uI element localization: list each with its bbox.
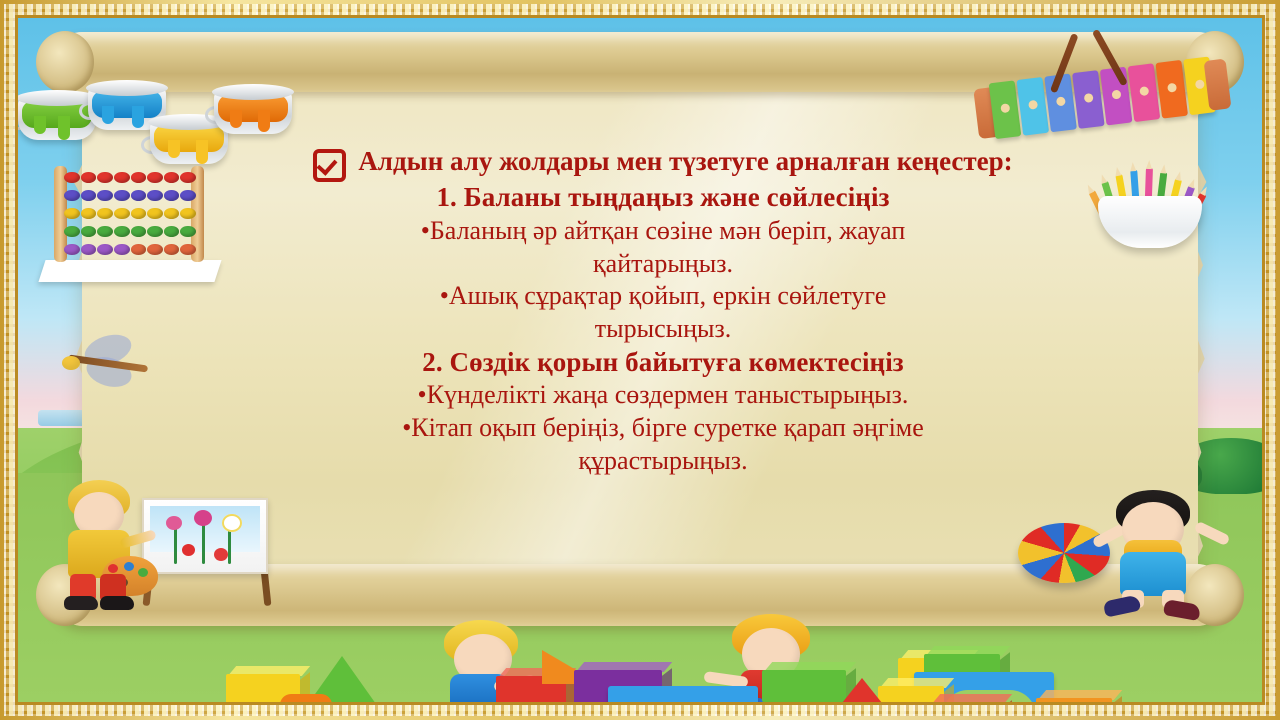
abacus-bead — [164, 226, 180, 237]
abacus-bead — [97, 190, 113, 201]
block-front-face — [1036, 698, 1112, 702]
scroll-roll-cap-left — [36, 31, 94, 93]
abacus-bead — [114, 190, 130, 201]
block-red-right — [930, 694, 1002, 702]
abacus-bead — [147, 190, 163, 201]
abacus-bead — [97, 208, 113, 219]
paint-drip — [230, 110, 242, 128]
palette-blob — [108, 564, 118, 573]
abacus-bead — [81, 244, 97, 255]
slide-line-bullet-1a-cont: қайтарыңыз. — [283, 249, 1043, 280]
abacus-bead — [81, 208, 97, 219]
abacus-bead — [180, 244, 196, 255]
slide-canvas: Алдын алу жолдары мен түзетуге арналған … — [0, 0, 1280, 720]
abacus-bead — [64, 208, 80, 219]
abacus-bead — [81, 190, 97, 201]
abacus-bead — [164, 190, 180, 201]
abacus-bead — [131, 226, 147, 237]
abacus-bead — [180, 226, 196, 237]
abacus-row — [64, 190, 196, 201]
abacus-bead — [147, 172, 163, 183]
paint-drip — [132, 106, 144, 128]
abacus-bead — [81, 226, 97, 237]
child-shoe — [1163, 599, 1201, 621]
abacus-bead — [131, 208, 147, 219]
abacus-bead — [114, 208, 130, 219]
abacus-bead — [114, 226, 130, 237]
child-with-ball — [1100, 490, 1220, 618]
paint-drip — [196, 140, 208, 164]
abacus-bead — [180, 172, 196, 183]
paint-drip — [258, 110, 270, 132]
paint-drip — [34, 116, 46, 134]
easel-canvas — [142, 498, 268, 574]
abacus-bead — [64, 226, 80, 237]
paint-drip — [168, 140, 180, 158]
flower-icon — [222, 514, 242, 532]
abacus — [54, 166, 204, 276]
abacus-bead — [97, 244, 113, 255]
slide-text-block: Алдын алу жолдары мен түзетуге арналған … — [283, 146, 1043, 478]
flower-icon — [194, 510, 212, 526]
block-orange-small — [280, 686, 332, 702]
abacus-bead — [147, 226, 163, 237]
easel — [142, 498, 272, 606]
palette-blob — [124, 562, 134, 571]
boy-shoe — [100, 596, 134, 610]
abacus-bead — [180, 208, 196, 219]
paint-drip — [102, 106, 114, 124]
beach-ball — [1018, 523, 1110, 583]
child-shoe — [1103, 594, 1142, 617]
slide-line-bullet-1b-cont: тырысыңыз. — [283, 314, 1043, 345]
slide-lines: 1. Баланы тыңдаңыз және сөйлесіңіз•Балан… — [283, 182, 1043, 476]
slide-line-bullet-2b: •Кітап оқып беріңіз, бірге суретке қарап… — [283, 413, 1043, 444]
slide-heading-text: Алдын алу жолдары мен түзетуге арналған … — [358, 146, 1012, 178]
slide-line-bullet-1a: •Баланың әр айтқан сөзіне мән беріп, жау… — [283, 216, 1043, 247]
abacus-row — [64, 172, 196, 183]
abacus-base — [38, 260, 221, 282]
abacus-bead — [131, 172, 147, 183]
dragonfly-head — [62, 356, 80, 370]
slide-line-bullet-2b-cont: құрастырыңыз. — [283, 446, 1043, 477]
abacus-bead — [164, 208, 180, 219]
block-top-face — [932, 694, 1012, 702]
abacus-bead — [131, 244, 147, 255]
abacus-bead — [147, 208, 163, 219]
block-orange-right — [1036, 690, 1112, 702]
slide-heading: Алдын алу жолдары мен түзетуге арналған … — [283, 146, 1043, 182]
abacus-row — [64, 244, 196, 255]
slide-inner-area: Алдын алу жолдары мен түзетуге арналған … — [18, 18, 1262, 702]
abacus-bead — [97, 172, 113, 183]
abacus-bead — [180, 190, 196, 201]
flower-icon — [214, 548, 228, 561]
palette-blob — [138, 568, 148, 577]
abacus-bead — [97, 226, 113, 237]
abacus-bead — [114, 172, 130, 183]
boy-painting-at-easel — [46, 480, 276, 610]
abacus-row — [64, 208, 196, 219]
slide-line-section-1: 1. Баланы тыңдаңыз және сөйлесіңіз — [283, 182, 1043, 214]
abacus-bead — [164, 244, 180, 255]
abacus-bead — [164, 172, 180, 183]
cup-rim — [86, 80, 168, 96]
abacus-bead — [64, 190, 80, 201]
abacus-bead — [81, 172, 97, 183]
abacus-bead — [64, 244, 80, 255]
slide-line-bullet-2a: •Күнделікті жаңа сөздермен таныстырыңыз. — [283, 380, 1043, 411]
flower-icon — [182, 544, 195, 556]
colored-pencils-cup — [1098, 186, 1202, 248]
slide-line-section-2: 2. Сөздік қорын байытуға көмектесіңіз — [283, 347, 1043, 379]
pencil-cup-bowl — [1098, 196, 1202, 248]
block-triangle-red — [830, 678, 894, 702]
flower-stem — [174, 524, 177, 564]
paint-cup-orange — [214, 84, 292, 136]
abacus-row — [64, 226, 196, 237]
abacus-bead — [147, 244, 163, 255]
flower-icon — [166, 516, 182, 530]
block-arch-blue — [608, 686, 758, 702]
paint-drip — [58, 116, 70, 140]
abacus-bead — [64, 172, 80, 183]
checkbox-checked-icon — [313, 149, 346, 182]
cup-rim — [212, 84, 294, 100]
block-front-face — [280, 694, 332, 702]
boy-shoe — [64, 596, 98, 610]
dragonfly-icon — [62, 336, 158, 392]
abacus-bead — [131, 190, 147, 201]
abacus-bead — [114, 244, 130, 255]
slide-line-bullet-1b: •Ашық сұрақтар қойып, еркін сөйлетуге — [283, 281, 1043, 312]
